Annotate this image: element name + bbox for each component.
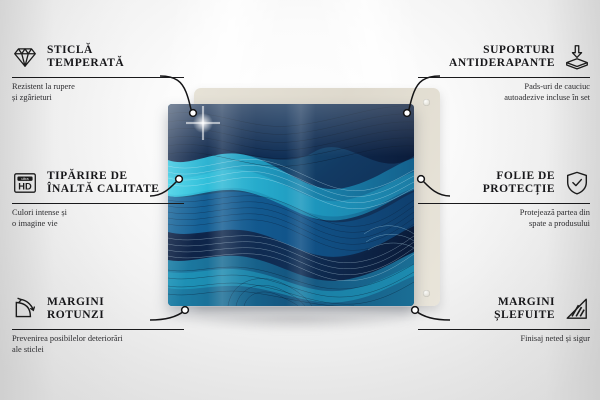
callout-header: SUPORTURI ANTIDERAPANTE xyxy=(418,40,590,74)
svg-text:HD: HD xyxy=(18,182,32,192)
callout-divider xyxy=(12,77,184,78)
callout-header: MARGINI ROTUNZI xyxy=(12,292,184,326)
hatched-triangle-icon xyxy=(564,296,590,322)
callout-header: MARGINI ȘLEFUITE xyxy=(418,292,590,326)
callout-title: MARGINI ROTUNZI xyxy=(47,296,104,321)
callout-subtitle-line2: spate a produsului xyxy=(418,219,590,229)
press-pad-icon xyxy=(564,44,590,70)
callout-header: ultra HD TIPĂRIRE DE ÎNALTĂ CALITATE xyxy=(12,166,184,200)
callout-header: STICLĂ TEMPERATĂ xyxy=(12,40,184,74)
callout-suporturi-antiderapante: SUPORTURI ANTIDERAPANTE Pads-uri de cauc… xyxy=(418,40,590,103)
callout-subtitle-line1: Culori intense și xyxy=(12,208,184,218)
callout-margini-slefuite: MARGINI ȘLEFUITE Finisaj neted și sigur xyxy=(418,292,590,345)
callout-subtitle-line1: Prevenirea posibilelor deteriorări xyxy=(12,334,184,344)
callout-subtitle-line1: Pads-uri de cauciuc xyxy=(418,82,590,92)
diamond-icon xyxy=(12,44,38,70)
product-shadow xyxy=(176,316,416,332)
callout-divider xyxy=(418,203,590,204)
shield-check-icon xyxy=(564,170,590,196)
callout-subtitle-line2: și zgârieturi xyxy=(12,93,184,103)
callout-title: TIPĂRIRE DE ÎNALTĂ CALITATE xyxy=(47,170,159,195)
callout-subtitle-line1: Rezistent la rupere xyxy=(12,82,184,92)
callout-subtitle-line2: o imagine vie xyxy=(12,219,184,229)
callout-sticla-temperata: STICLĂ TEMPERATĂ Rezistent la rupere și … xyxy=(12,40,184,103)
rounded-corner-icon xyxy=(12,296,38,322)
product-image xyxy=(168,88,440,322)
callout-subtitle-line1: Protejează partea din xyxy=(418,208,590,218)
callout-title: SUPORTURI ANTIDERAPANTE xyxy=(449,44,555,69)
callout-subtitle-line2: autoadezive incluse în set xyxy=(418,93,590,103)
callout-title: MARGINI ȘLEFUITE xyxy=(494,296,555,321)
glass-panel xyxy=(168,104,414,306)
callout-divider xyxy=(418,77,590,78)
wave-artwork xyxy=(168,104,414,306)
callout-tiparire-de-inalta-calitate: ultra HD TIPĂRIRE DE ÎNALTĂ CALITATE Cul… xyxy=(12,166,184,229)
ultra-hd-icon: ultra HD xyxy=(12,170,38,196)
callout-folie-de-protectie: FOLIE DE PROTECȚIE Protejează partea din… xyxy=(418,166,590,229)
callout-subtitle-line1: Finisaj neted și sigur xyxy=(418,334,590,344)
callout-divider xyxy=(418,329,590,330)
callout-divider xyxy=(12,329,184,330)
callout-divider xyxy=(12,203,184,204)
callout-title: STICLĂ TEMPERATĂ xyxy=(47,44,124,69)
callout-title: FOLIE DE PROTECȚIE xyxy=(483,170,555,195)
callout-subtitle-line2: ale sticlei xyxy=(12,345,184,355)
callout-header: FOLIE DE PROTECȚIE xyxy=(418,166,590,200)
callout-margini-rotunzi: MARGINI ROTUNZI Prevenirea posibilelor d… xyxy=(12,292,184,355)
